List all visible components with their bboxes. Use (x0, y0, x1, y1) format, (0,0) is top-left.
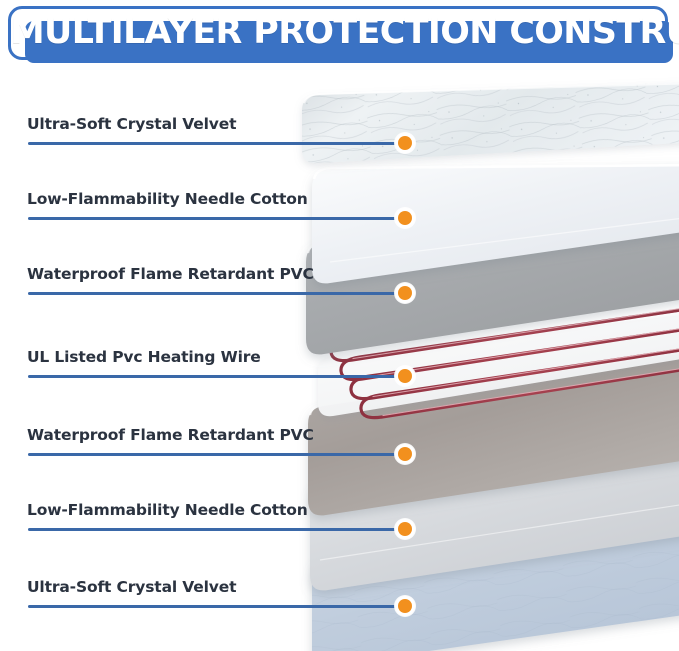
leader-line (28, 453, 405, 456)
marker-dot (398, 447, 412, 461)
marker-dot (398, 211, 412, 225)
layer-stack-illustration (0, 0, 679, 651)
callout-label: Ultra-Soft Crystal Velvet (27, 115, 236, 133)
leader-line (28, 217, 405, 220)
infographic-canvas: MULTILAYER PROTECTION CONSTRUCTION (0, 0, 679, 651)
marker-dot (398, 599, 412, 613)
leader-line (28, 528, 405, 531)
callout-label: Ultra-Soft Crystal Velvet (27, 578, 236, 596)
callout-label: Waterproof Flame Retardant PVC (27, 265, 314, 283)
callout-label: UL Listed Pvc Heating Wire (27, 348, 261, 366)
marker-dot (398, 369, 412, 383)
marker-dot (398, 286, 412, 300)
leader-line (28, 605, 405, 608)
leader-line (28, 142, 405, 145)
marker-dot (398, 522, 412, 536)
callout-label: Low-Flammability Needle Cotton (27, 501, 308, 519)
callout-label: Waterproof Flame Retardant PVC (27, 426, 314, 444)
leader-line (28, 292, 405, 295)
marker-dot (398, 136, 412, 150)
callout-label: Low-Flammability Needle Cotton (27, 190, 308, 208)
layer-crystal-velvet-top (302, 82, 679, 163)
leader-line (28, 375, 405, 378)
